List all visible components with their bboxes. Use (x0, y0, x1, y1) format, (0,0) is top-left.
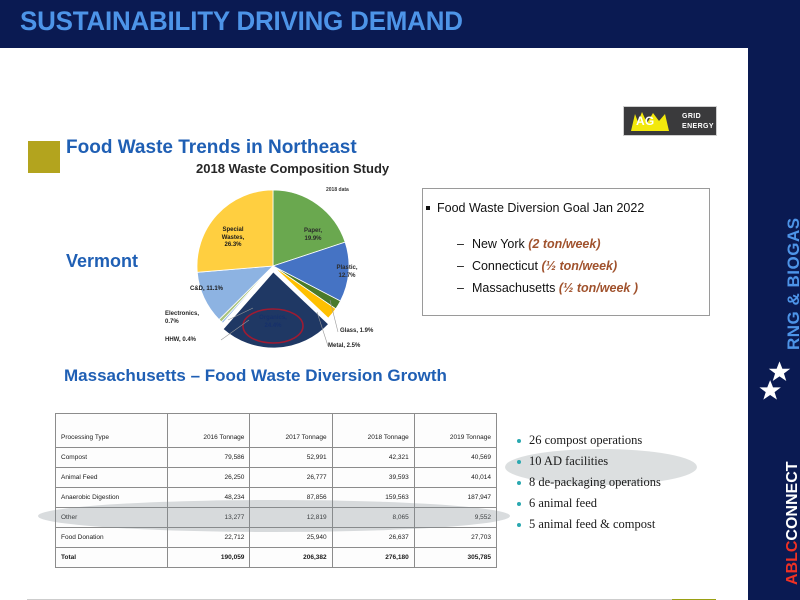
table-body: Compost79,58652,99142,32140,569Animal Fe… (56, 448, 497, 568)
table-row: Compost79,58652,99142,32140,569 (56, 448, 497, 468)
presentation-slide: SUSTAINABILITY DRIVING DEMAND AG GRID EN… (0, 0, 800, 600)
pie-label-paper: Paper, 19.9% (296, 228, 330, 243)
diversion-goal-box: Food Waste Diversion Goal Jan 2022 –New … (422, 188, 710, 316)
cell-tonnage-2019: 27,703 (414, 528, 496, 548)
pie-label-glass: Glass, 1.9% (340, 328, 390, 336)
table-header-row: Processing Type 2016 Tonnage 2017 Tonnag… (56, 414, 497, 448)
cell-tonnage-2019: 187,947 (414, 488, 496, 508)
waste-composition-pie-chart: 2018 data Special Wastes, 26.3% Paper, 1… (165, 180, 400, 358)
goal-item-state: Connecticut (472, 259, 538, 273)
pie-chart-title: 2018 Waste Composition Study (196, 161, 389, 176)
goal-box-title: Food Waste Diversion Goal Jan 2022 (437, 201, 644, 215)
sidebar-topic-label: RNG & BIOGAS (784, 217, 800, 350)
table-row: Total190,059206,382276,180305,785 (56, 548, 497, 568)
table-row: Anaerobic Digestion48,23487,856159,56318… (56, 488, 497, 508)
state-label-vermont: Vermont (66, 251, 138, 272)
table-row: Food Donation22,71225,94026,63727,703 (56, 528, 497, 548)
column-header-processing-type: Processing Type (56, 414, 168, 448)
cell-tonnage-2018: 39,593 (332, 468, 414, 488)
sidebar-brand-label: ABLCCONNECT (784, 461, 800, 585)
cell-processing-type: Animal Feed (56, 468, 168, 488)
goal-item-massachusetts: –Massachusetts (½ ton/week ) (457, 281, 638, 295)
goal-item-state: New York (472, 237, 525, 251)
goal-item-connecticut: –Connecticut (½ ton/week) (457, 259, 617, 273)
cell-tonnage-2016: 26,250 (168, 468, 250, 488)
column-header-2017: 2017 Tonnage (250, 414, 332, 448)
list-item: 8 de-packaging operations (515, 475, 715, 490)
square-bullet-icon (426, 206, 430, 210)
cell-tonnage-2018: 26,637 (332, 528, 414, 548)
dash-icon: – (457, 281, 464, 295)
brand-prefix: ABLC (784, 541, 800, 585)
slide-title-bar: SUSTAINABILITY DRIVING DEMAND (0, 0, 800, 48)
stars-icon (754, 358, 796, 404)
cell-tonnage-2017: 52,991 (250, 448, 332, 468)
column-header-2016: 2016 Tonnage (168, 414, 250, 448)
section-heading-food-waste: Food Waste Trends in Northeast (66, 137, 357, 159)
cell-tonnage-2018: 8,065 (332, 508, 414, 528)
goal-item-state: Massachusetts (472, 281, 555, 295)
cell-tonnage-2016: 190,059 (168, 548, 250, 568)
table-row: Other13,27712,8198,0659,552 (56, 508, 497, 528)
cell-processing-type: Anaerobic Digestion (56, 488, 168, 508)
cell-tonnage-2018: 159,563 (332, 488, 414, 508)
list-item: 26 compost operations (515, 433, 715, 448)
logo-mark-text: AG (636, 114, 654, 128)
dash-icon: – (457, 237, 464, 251)
cell-tonnage-2017: 26,777 (250, 468, 332, 488)
pie-label-metal: Metal, 2.5% (328, 343, 380, 351)
pie-label-plastic: Plastic, 12.7% (332, 265, 362, 280)
cell-tonnage-2018: 42,321 (332, 448, 414, 468)
logo-line-2: ENERGY (682, 123, 714, 130)
cell-tonnage-2019: 305,785 (414, 548, 496, 568)
list-item: 6 animal feed (515, 496, 715, 511)
facility-counts-list: 26 compost operations10 AD facilities8 d… (515, 433, 715, 538)
cell-tonnage-2016: 79,586 (168, 448, 250, 468)
cell-tonnage-2016: 22,712 (168, 528, 250, 548)
cell-tonnage-2017: 25,940 (250, 528, 332, 548)
cell-tonnage-2017: 12,819 (250, 508, 332, 528)
slide-content-panel: AG GRID ENERGY Food Waste Trends in Nort… (0, 48, 748, 600)
dash-icon: – (457, 259, 464, 273)
cell-tonnage-2019: 9,552 (414, 508, 496, 528)
cell-tonnage-2017: 87,856 (250, 488, 332, 508)
column-header-2018: 2018 Tonnage (332, 414, 414, 448)
cell-tonnage-2019: 40,014 (414, 468, 496, 488)
cell-tonnage-2019: 40,569 (414, 448, 496, 468)
goal-item-amount: (2 ton/week) (528, 237, 600, 251)
cell-tonnage-2016: 13,277 (168, 508, 250, 528)
cell-processing-type: Total (56, 548, 168, 568)
ag-grid-energy-logo: AG GRID ENERGY (623, 106, 717, 136)
pie-label-hhw: HHW, 0.4% (165, 337, 211, 345)
cell-tonnage-2018: 276,180 (332, 548, 414, 568)
goal-item-amount: (½ ton/week) (541, 259, 617, 273)
accent-swatch (28, 141, 60, 173)
right-sidebar: RNG & BIOGAS ABLCCONNECT (748, 0, 800, 600)
pie-label-organics: Organics, 24.4% (251, 315, 295, 330)
goal-item-new-york: –New York (2 ton/week) (457, 237, 601, 251)
pie-label-electronics: Electronics, 0.7% (165, 311, 209, 326)
logo-line-1: GRID (682, 113, 701, 120)
column-header-2019: 2019 Tonnage (414, 414, 496, 448)
brand-suffix: CONNECT (784, 461, 800, 540)
diversion-growth-table: Processing Type 2016 Tonnage 2017 Tonnag… (55, 413, 497, 568)
cell-tonnage-2017: 206,382 (250, 548, 332, 568)
cell-processing-type: Food Donation (56, 528, 168, 548)
section-heading-massachusetts: Massachusetts – Food Waste Diversion Gro… (64, 366, 447, 386)
list-item: 10 AD facilities (515, 454, 715, 469)
cell-processing-type: Compost (56, 448, 168, 468)
cell-processing-type: Other (56, 508, 168, 528)
pie-label-special-wastes: Special Wastes, 26.3% (212, 227, 254, 250)
page-title: SUSTAINABILITY DRIVING DEMAND (20, 6, 463, 37)
list-item: 5 animal feed & compost (515, 517, 715, 532)
pie-label-cd: C&D, 11.1% (190, 286, 242, 294)
goal-item-amount: (½ ton/week ) (559, 281, 638, 295)
cell-tonnage-2016: 48,234 (168, 488, 250, 508)
table-row: Animal Feed26,25026,77739,59340,014 (56, 468, 497, 488)
